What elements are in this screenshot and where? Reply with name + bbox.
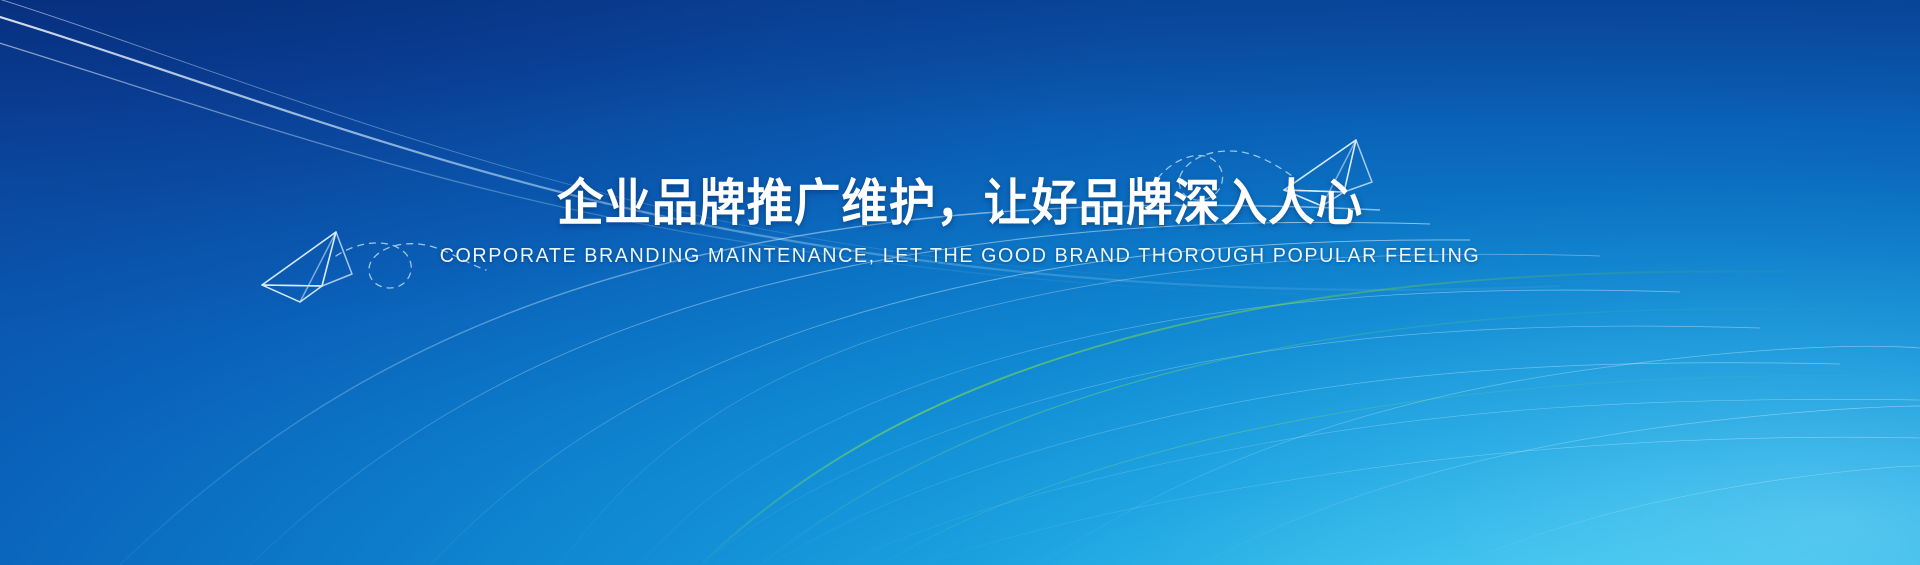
banner-headline: 企业品牌推广维护，让好品牌深入人心: [67, 176, 1853, 230]
background-vignette: [0, 0, 1920, 565]
hero-banner: 企业品牌推广维护，让好品牌深入人心 CORPORATE BRANDING MAI…: [0, 0, 1920, 565]
banner-subheadline: CORPORATE BRANDING MAINTENANCE, LET THE …: [14, 244, 1905, 268]
banner-text-block: 企业品牌推广维护，让好品牌深入人心 CORPORATE BRANDING MAI…: [0, 176, 1920, 268]
